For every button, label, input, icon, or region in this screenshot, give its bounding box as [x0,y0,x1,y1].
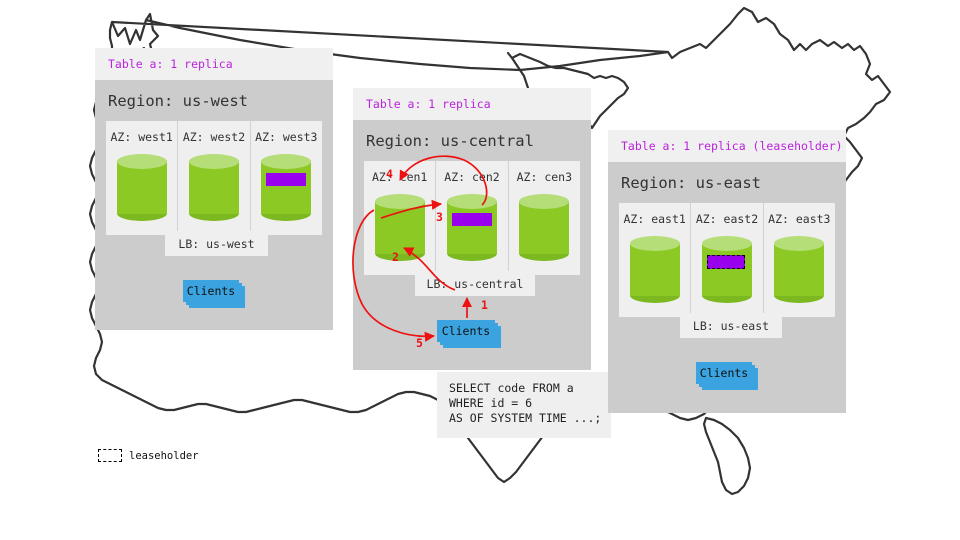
clients-us-east[interactable]: Clients [696,362,758,390]
az-row-us-east: AZ: east1 AZ: east2 AZ: east3 [619,203,835,317]
cylinder-west3[interactable] [261,154,311,221]
cylinder-top [261,154,311,169]
az-east3[interactable]: AZ: east3 [764,203,835,317]
replica-east2-leaseholder[interactable] [707,255,745,269]
step-label-2: 2 [392,250,399,264]
cylinder-top [519,194,569,209]
az-label-cen3: AZ: cen3 [517,170,572,184]
replica-cen2[interactable] [452,213,492,226]
replica-west3[interactable] [266,173,306,186]
leaseholder-swatch-icon [98,449,122,462]
clients-label: Clients [187,284,235,298]
cylinder-east2[interactable] [702,236,752,303]
cylinder-west2[interactable] [189,154,239,221]
az-label-east3: AZ: east3 [768,212,830,226]
az-label-cen2: AZ: cen2 [444,170,499,184]
region-title-us-west: Region: us-west [95,80,333,121]
clients-us-west[interactable]: Clients [183,280,245,308]
region-panel-us-east: Table a: 1 replica (leaseholder) Region:… [608,130,846,413]
region-header-us-west: Table a: 1 replica [95,48,333,80]
clients-label: Clients [442,324,490,338]
step-label-5: 5 [416,336,423,350]
lb-us-east[interactable]: LB: us-east [680,313,782,338]
az-west2[interactable]: AZ: west2 [178,121,250,235]
cylinder-east3[interactable] [774,236,824,303]
region-title-us-central: Region: us-central [353,120,591,161]
step-label-1: 1 [481,298,488,312]
cylinder-west1[interactable] [117,154,167,221]
az-cen1[interactable]: AZ: cen1 [364,161,436,275]
step-label-3: 3 [436,210,443,224]
cylinder-top [630,236,680,251]
region-header-us-central: Table a: 1 replica [353,88,591,120]
az-cen3[interactable]: AZ: cen3 [509,161,580,275]
clients-sheet-front[interactable]: Clients [437,320,495,342]
cylinder-cen2[interactable] [447,194,497,261]
az-row-us-west: AZ: west1 AZ: west2 AZ: west3 [106,121,322,235]
cylinder-top [375,194,425,209]
az-label-west3: AZ: west3 [255,130,317,144]
sql-query-box: SELECT code FROM a WHERE id = 6 AS OF SY… [437,372,611,438]
cylinder-top [117,154,167,169]
az-label-east1: AZ: east1 [624,212,686,226]
step-label-4: 4 [386,167,393,181]
legend-label: leaseholder [129,450,199,462]
region-panel-us-central: Table a: 1 replica Region: us-central AZ… [353,88,591,370]
lb-us-central[interactable]: LB: us-central [415,271,535,296]
az-cen2[interactable]: AZ: cen2 [436,161,508,275]
cylinder-cen3[interactable] [519,194,569,261]
legend-leaseholder: leaseholder [98,449,199,462]
clients-label: Clients [700,366,748,380]
az-east1[interactable]: AZ: east1 [619,203,691,317]
cylinder-cen1[interactable] [375,194,425,261]
diagram-canvas: Table a: 1 replica Region: us-west AZ: w… [0,0,960,540]
clients-sheet-front[interactable]: Clients [183,280,239,302]
az-label-west1: AZ: west1 [111,130,173,144]
cylinder-top [447,194,497,209]
region-panel-us-west: Table a: 1 replica Region: us-west AZ: w… [95,48,333,330]
cylinder-top [702,236,752,251]
clients-sheet-front[interactable]: Clients [696,362,752,384]
region-title-us-east: Region: us-east [608,162,846,203]
lb-us-west[interactable]: LB: us-west [165,231,268,256]
az-west3[interactable]: AZ: west3 [251,121,322,235]
az-east2[interactable]: AZ: east2 [691,203,763,317]
az-label-cen1: AZ: cen1 [372,170,427,184]
az-label-east2: AZ: east2 [696,212,758,226]
region-header-us-east: Table a: 1 replica (leaseholder) [608,130,846,162]
az-west1[interactable]: AZ: west1 [106,121,178,235]
cylinder-top [189,154,239,169]
clients-us-central[interactable]: Clients [437,320,503,348]
cylinder-top [774,236,824,251]
cylinder-east1[interactable] [630,236,680,303]
az-label-west2: AZ: west2 [183,130,245,144]
